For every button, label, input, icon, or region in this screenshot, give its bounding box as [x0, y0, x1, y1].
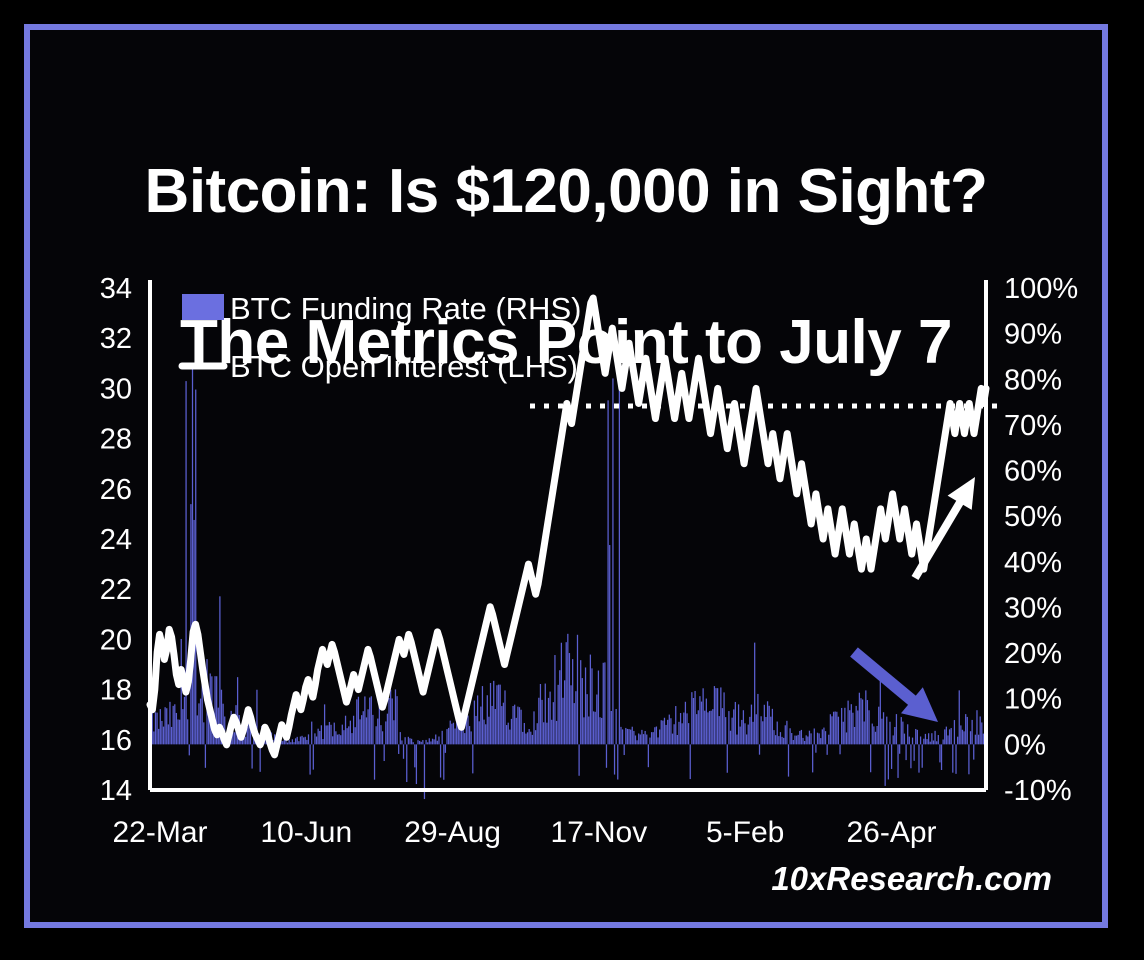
left-axis-tick-30: 30 [100, 373, 132, 405]
funding-rate-down-arrow [854, 652, 938, 722]
right-axis-tick-10pct: 10% [1004, 684, 1062, 716]
right-axis-tick-80pct: 80% [1004, 364, 1062, 396]
x-axis-tick-10-jun: 10-Jun [260, 816, 352, 849]
right-axis-tick-40pct: 40% [1004, 547, 1062, 579]
right-axis-tick-90pct: 90% [1004, 319, 1062, 351]
right-axis-tick-100pct: 100% [1004, 273, 1078, 305]
legend-item-funding-rate: BTC Funding Rate (RHS) [182, 291, 581, 326]
x-axis-tick-17-nov: 17-Nov [551, 816, 648, 849]
right-axis-tick-neg10pct: -10% [1004, 775, 1072, 807]
right-axis-tick-70pct: 70% [1004, 410, 1062, 442]
chart-card: Bitcoin: Is $120,000 in Sight? The Metri… [0, 0, 1144, 960]
x-axis-tick-22-mar: 22-Mar [112, 816, 207, 849]
legend-label: BTC Funding Rate (RHS) [230, 291, 581, 326]
x-axis-labels: 22-Mar10-Jun29-Aug17-Nov5-Feb26-Apr [112, 816, 936, 849]
x-axis-tick-26-apr: 26-Apr [846, 816, 936, 849]
annotation-arrows [854, 477, 975, 722]
right-axis-tick-30pct: 30% [1004, 593, 1062, 625]
right-axis-tick-60pct: 60% [1004, 456, 1062, 488]
right-axis-tick-50pct: 50% [1004, 501, 1062, 533]
legend-swatch-icon [182, 294, 224, 320]
left-axis-tick-16: 16 [100, 725, 132, 757]
x-axis-tick-29-aug: 29-Aug [404, 816, 501, 849]
legend-label: BTC Open Interest (LHS) [230, 349, 578, 384]
left-axis-tick-20: 20 [100, 624, 132, 656]
left-axis-tick-32: 32 [100, 323, 132, 355]
chart-svg: 1416182022242628303234 -10%0%10%20%30%40… [0, 0, 1144, 960]
left-axis-labels: 1416182022242628303234 [100, 273, 132, 807]
left-axis-tick-24: 24 [100, 524, 132, 556]
funding-rate-bars [150, 366, 986, 799]
open-interest-up-arrow [915, 477, 975, 578]
chart-legend: BTC Funding Rate (RHS)BTC Open Interest … [182, 291, 581, 384]
x-axis-tick-5-feb: 5-Feb [706, 816, 784, 849]
right-axis-tick-0pct: 0% [1004, 729, 1046, 761]
chart-plot-area: 1416182022242628303234 -10%0%10%20%30%40… [0, 0, 1144, 960]
right-axis-labels: -10%0%10%20%30%40%50%60%70%80%90%100% [1004, 273, 1078, 807]
left-axis-tick-22: 22 [100, 574, 132, 606]
left-axis-tick-18: 18 [100, 675, 132, 707]
left-axis-tick-28: 28 [100, 424, 132, 456]
left-axis-tick-34: 34 [100, 273, 132, 305]
left-axis-tick-14: 14 [100, 775, 132, 807]
watermark: 10xResearch.com [771, 860, 1052, 897]
right-axis-tick-20pct: 20% [1004, 638, 1062, 670]
left-axis-tick-26: 26 [100, 474, 132, 506]
legend-item-open-interest: BTC Open Interest (LHS) [182, 349, 578, 384]
